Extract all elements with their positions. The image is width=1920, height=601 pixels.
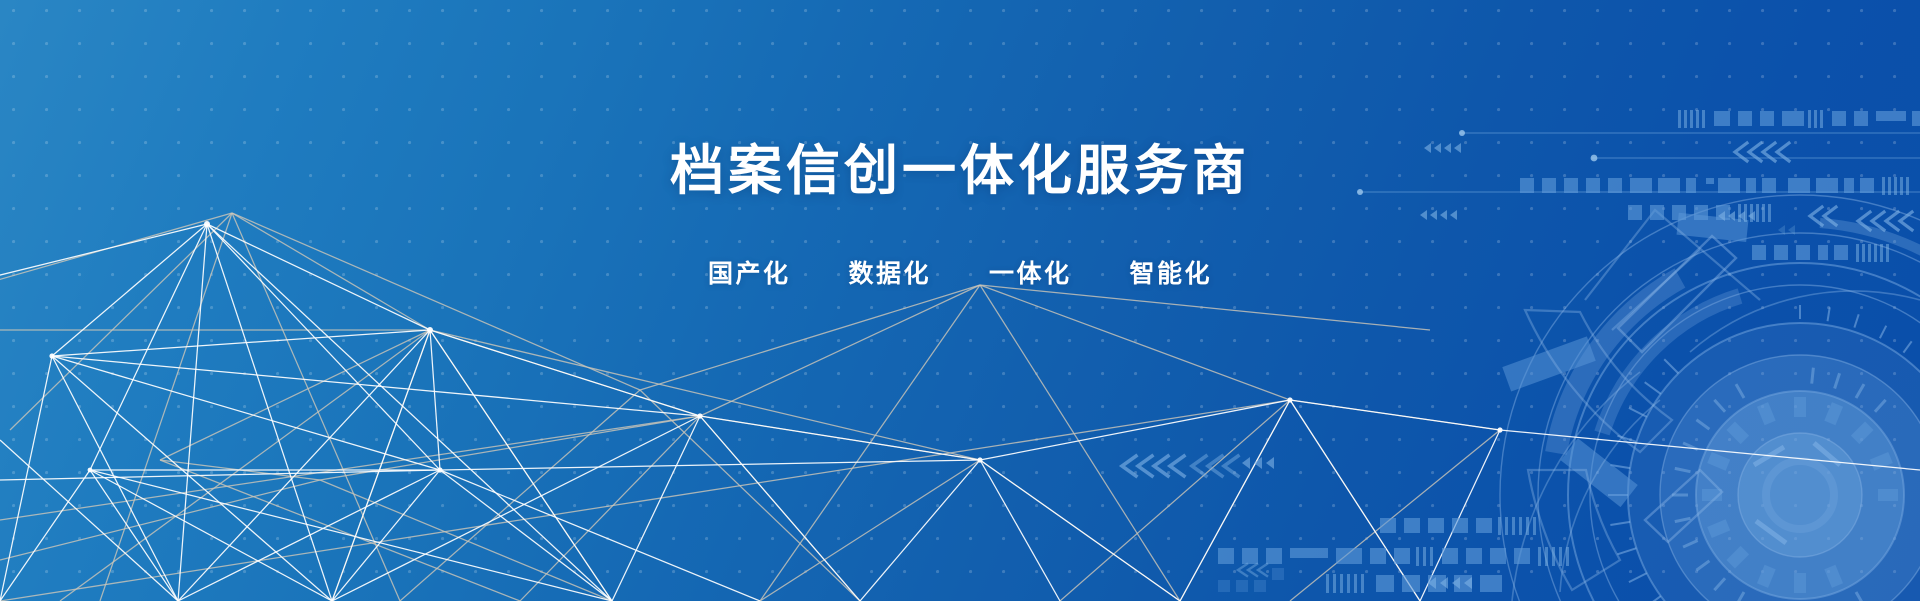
tech-bar-row-7 <box>1380 517 1536 535</box>
chevron-arrows <box>1122 143 1912 576</box>
tech-bar-row-1 <box>1678 110 1920 128</box>
tech-bar-row-4 <box>1752 244 1889 262</box>
triangle-arrows <box>1242 143 1795 589</box>
barcode-tech-bars <box>0 0 1920 601</box>
tech-bar-row-6 <box>1326 574 1502 593</box>
tech-bar-row-5 <box>1218 547 1569 566</box>
tech-bar-row-3 <box>1628 204 1771 222</box>
hero-banner: 档案信创一体化服务商 国产化 数据化 一体化 智能化 <box>0 0 1920 601</box>
